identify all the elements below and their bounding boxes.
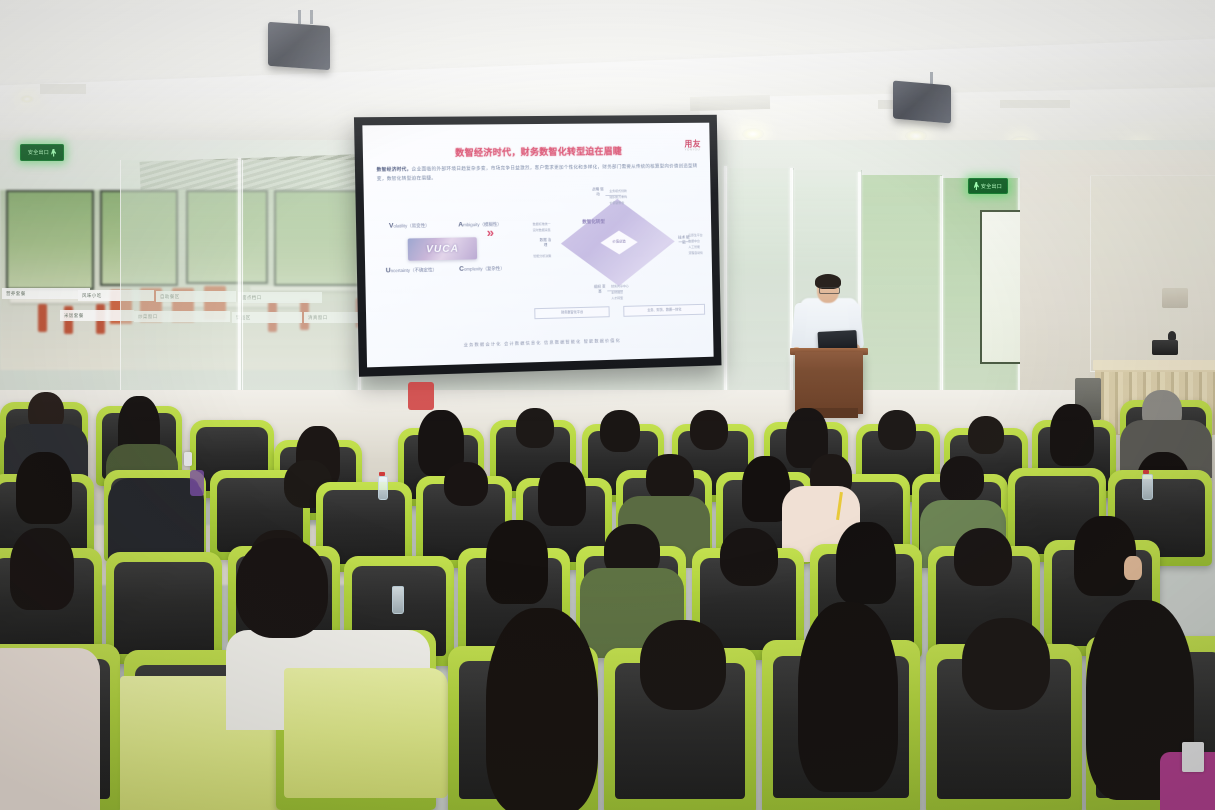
table-top [1093, 360, 1215, 370]
diamond-note: 智能分析决策 [533, 254, 551, 259]
glass-mullion [724, 166, 727, 396]
vuca-letter-v: Volatility（易变性） [389, 222, 430, 230]
audience-head [640, 620, 726, 710]
diamond-note: 价值链整合 [609, 201, 624, 205]
slide-body-text: 企业面临的外部环境日趋复杂多变，市场竞争日益激烈，客户需求更加个性化和多样化，财… [377, 163, 698, 180]
seat [106, 552, 222, 664]
audience-shoulders [0, 648, 100, 810]
ceiling-vent [1000, 100, 1070, 108]
water-bottle [392, 586, 404, 614]
diamond-bar-left: 财务数智化平台 [534, 306, 609, 319]
camera-body [1152, 340, 1178, 355]
glass-pane [242, 160, 360, 400]
diamond-note: 业务模式创新 [609, 189, 627, 193]
glass-mullion [940, 176, 943, 396]
red-bag [408, 382, 434, 410]
audience-head [444, 462, 488, 506]
slide-body-lead: 数智经济时代， [377, 166, 412, 171]
diamond-note: 云原生平台 [688, 233, 703, 237]
vuca-letter-u: Uncertainty（不确定性） [386, 266, 437, 274]
water-bottle [1142, 474, 1153, 500]
slide-body: 数智经济时代，企业面临的外部环境日趋复杂多变，市场竞争日益激烈，客户需求更加个性… [377, 162, 698, 183]
phone [184, 452, 192, 466]
audience-head [954, 528, 1012, 586]
audience-head [690, 410, 728, 450]
downlight [742, 128, 764, 140]
vuca-diagram: Volatility（易变性） Ambiguity（模糊性） Uncertain… [383, 212, 526, 285]
audience-head [836, 522, 896, 604]
presenter-glasses [819, 287, 840, 294]
vuca-badge-text: VUCA [426, 243, 459, 255]
vuca-letter-c: Complexity（复杂性） [459, 265, 505, 273]
audience-head [538, 462, 586, 526]
exit-sign-right: 安全出口 [968, 178, 1008, 194]
audience-head [486, 520, 548, 604]
audience-head [940, 456, 984, 502]
phone [1182, 742, 1204, 772]
slide-surface: 数智经济时代，财务数智化转型迫在眉睫 用友 YONYOU 数智经济时代，企业面临… [362, 123, 713, 368]
ceiling-vent [40, 84, 86, 94]
audience-head [1074, 516, 1136, 596]
exterior-window [980, 210, 1022, 364]
exit-sign-left: 安全出口 [20, 144, 64, 161]
diamond-note: 数据标准统一 [533, 222, 551, 227]
audience-head [962, 618, 1050, 710]
diamond-note: 实时数据采集 [533, 228, 551, 233]
audience-hand [1124, 556, 1142, 580]
diamond-quadrant-left: 数据 治理 [539, 238, 552, 247]
glass-pane [726, 168, 794, 393]
bottle-cap [1143, 470, 1149, 474]
slide-title: 数智经济时代，财务数智化转型迫在眉睫 [363, 143, 710, 160]
diamond-diagram: 数智化转型 价值创造 战略 驱动 技术 赋能 组织 变革 数据 治理 业务模式创… [534, 184, 701, 306]
audience-head [968, 416, 1004, 454]
glass-pane [120, 160, 242, 400]
water-bottle [378, 476, 388, 500]
ceiling-vent [690, 95, 770, 111]
canteen-sign: 营养套餐 [2, 288, 90, 299]
diamond-note: 流程自动化 [688, 251, 703, 255]
audience-head [1050, 404, 1094, 466]
diamond-bar-right: 业务、财务、数据一体化 [623, 304, 705, 317]
yonyou-logo-sub: YONYOU [685, 147, 701, 151]
audience-head [798, 602, 898, 792]
projection-screen: 数智经济时代，财务数智化转型迫在眉睫 用友 YONYOU 数智经济时代，企业面临… [354, 115, 722, 377]
diamond-quadrant-top: 战略 驱动 [591, 187, 604, 196]
audience-head [878, 410, 916, 450]
wall-fixture [1162, 288, 1188, 308]
audience-head [10, 528, 74, 610]
diamond-note: 人才转型 [611, 296, 623, 300]
speaker-mount [930, 72, 933, 84]
diamond-quadrant-bottom: 组织 变革 [593, 284, 606, 293]
speaker-mount [298, 10, 301, 24]
audience-head [646, 454, 694, 502]
ceiling-speaker-left [268, 22, 330, 70]
camera-lens-icon [1168, 331, 1176, 340]
bottle-cap [379, 472, 385, 476]
glass-mullion [790, 168, 793, 396]
diamond-note: 人工智能 [688, 245, 700, 249]
audience-head [16, 452, 72, 524]
ceiling-speaker-right [893, 80, 951, 123]
yellow-garment-drape [284, 668, 448, 798]
diamond-main-label: 数智化转型 [582, 219, 605, 225]
downlight [20, 95, 34, 103]
vuca-badge: VUCA [408, 237, 477, 261]
lecture-hall-photo: 营养套餐 风味小吃 自助餐区 面点档口 米饭套餐 炒菜窗口 饮品区 清真窗口 安… [0, 0, 1215, 810]
glass-mullion [238, 158, 241, 402]
arrow-chevron-icon: » [487, 225, 495, 240]
audience-head [720, 528, 778, 586]
leader-line [605, 195, 621, 196]
diamond-center-label: 价值创造 [608, 238, 630, 243]
exit-sign-text: 安全出口 [28, 149, 49, 156]
glass-door [860, 175, 942, 395]
slide-footer: 业务数据会计化 会计数据信息化 信息数据智能化 智能数据价值化 [367, 335, 714, 351]
lectern [795, 352, 863, 414]
running-man-icon [51, 149, 56, 157]
running-man-icon [974, 182, 979, 190]
exit-sign-text: 安全出口 [981, 183, 1002, 190]
diamond-note: 财务共享中心 [611, 284, 629, 289]
audience-head [486, 608, 598, 810]
speaker-mount [310, 10, 313, 24]
purple-item [190, 470, 204, 496]
audience-head [516, 408, 554, 448]
vuca-letter-a: Ambiguity（模糊性） [458, 221, 502, 229]
audience-head [600, 410, 640, 452]
audience-head [236, 538, 328, 638]
